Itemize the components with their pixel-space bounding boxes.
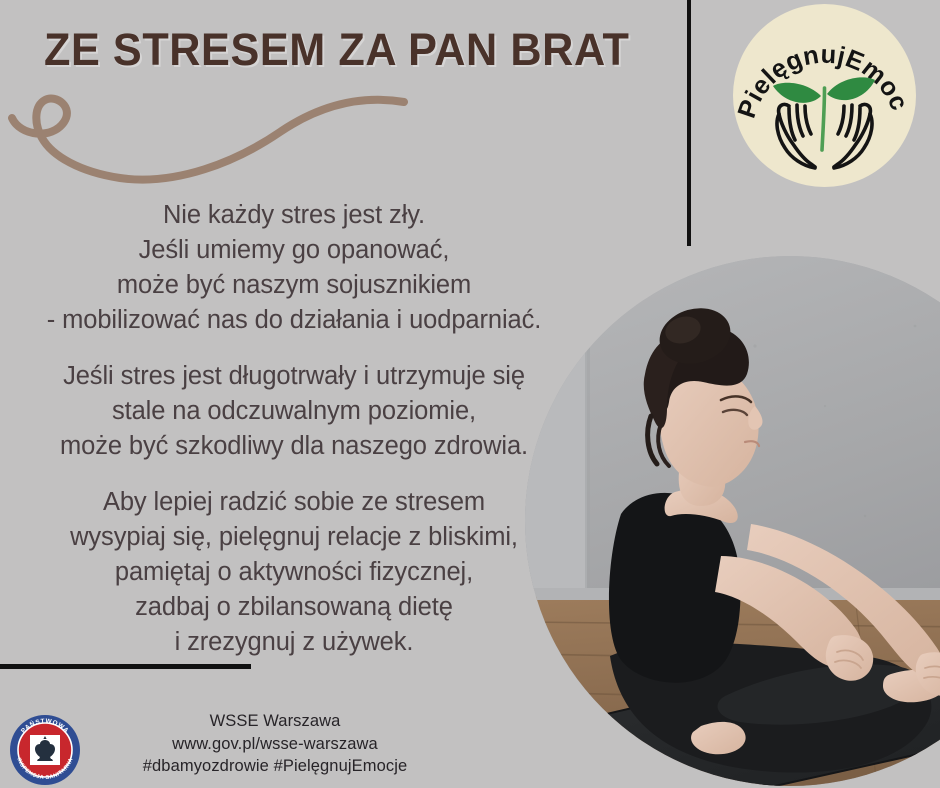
poster-root: ZE STRESEM ZA PAN BRAT #PielęgnujEmocje bbox=[0, 0, 940, 788]
panstwowa-inspekcja-sanitarna-emblem: PAŃSTWOWA INSPEKCJA SANITARNA bbox=[9, 714, 81, 786]
page-title: ZE STRESEM ZA PAN BRAT bbox=[44, 24, 629, 76]
vertical-divider bbox=[687, 0, 691, 246]
decorative-swirl-icon bbox=[8, 78, 408, 190]
horizontal-divider bbox=[0, 664, 251, 669]
footer-line-hashtags: #dbamyozdrowie #PielęgnujEmocje bbox=[100, 755, 450, 778]
body-paragraph-3: Aby lepiej radzić sobie ze stresem wysyp… bbox=[0, 485, 588, 660]
footer-text-block: WSSE Warszawa www.gov.pl/wsse-warszawa #… bbox=[100, 710, 450, 778]
footer-line-website[interactable]: www.gov.pl/wsse-warszawa bbox=[100, 733, 450, 756]
footer-line-organization: WSSE Warszawa bbox=[100, 710, 450, 733]
body-paragraph-1: Nie każdy stres jest zły. Jeśli umiemy g… bbox=[0, 198, 588, 338]
pielegnuj-emocje-logo: #PielęgnujEmocje bbox=[733, 4, 916, 187]
body-copy: Nie każdy stres jest zły. Jeśli umiemy g… bbox=[0, 198, 588, 660]
body-paragraph-2: Jeśli stres jest długotrwały i utrzymuje… bbox=[0, 359, 588, 464]
